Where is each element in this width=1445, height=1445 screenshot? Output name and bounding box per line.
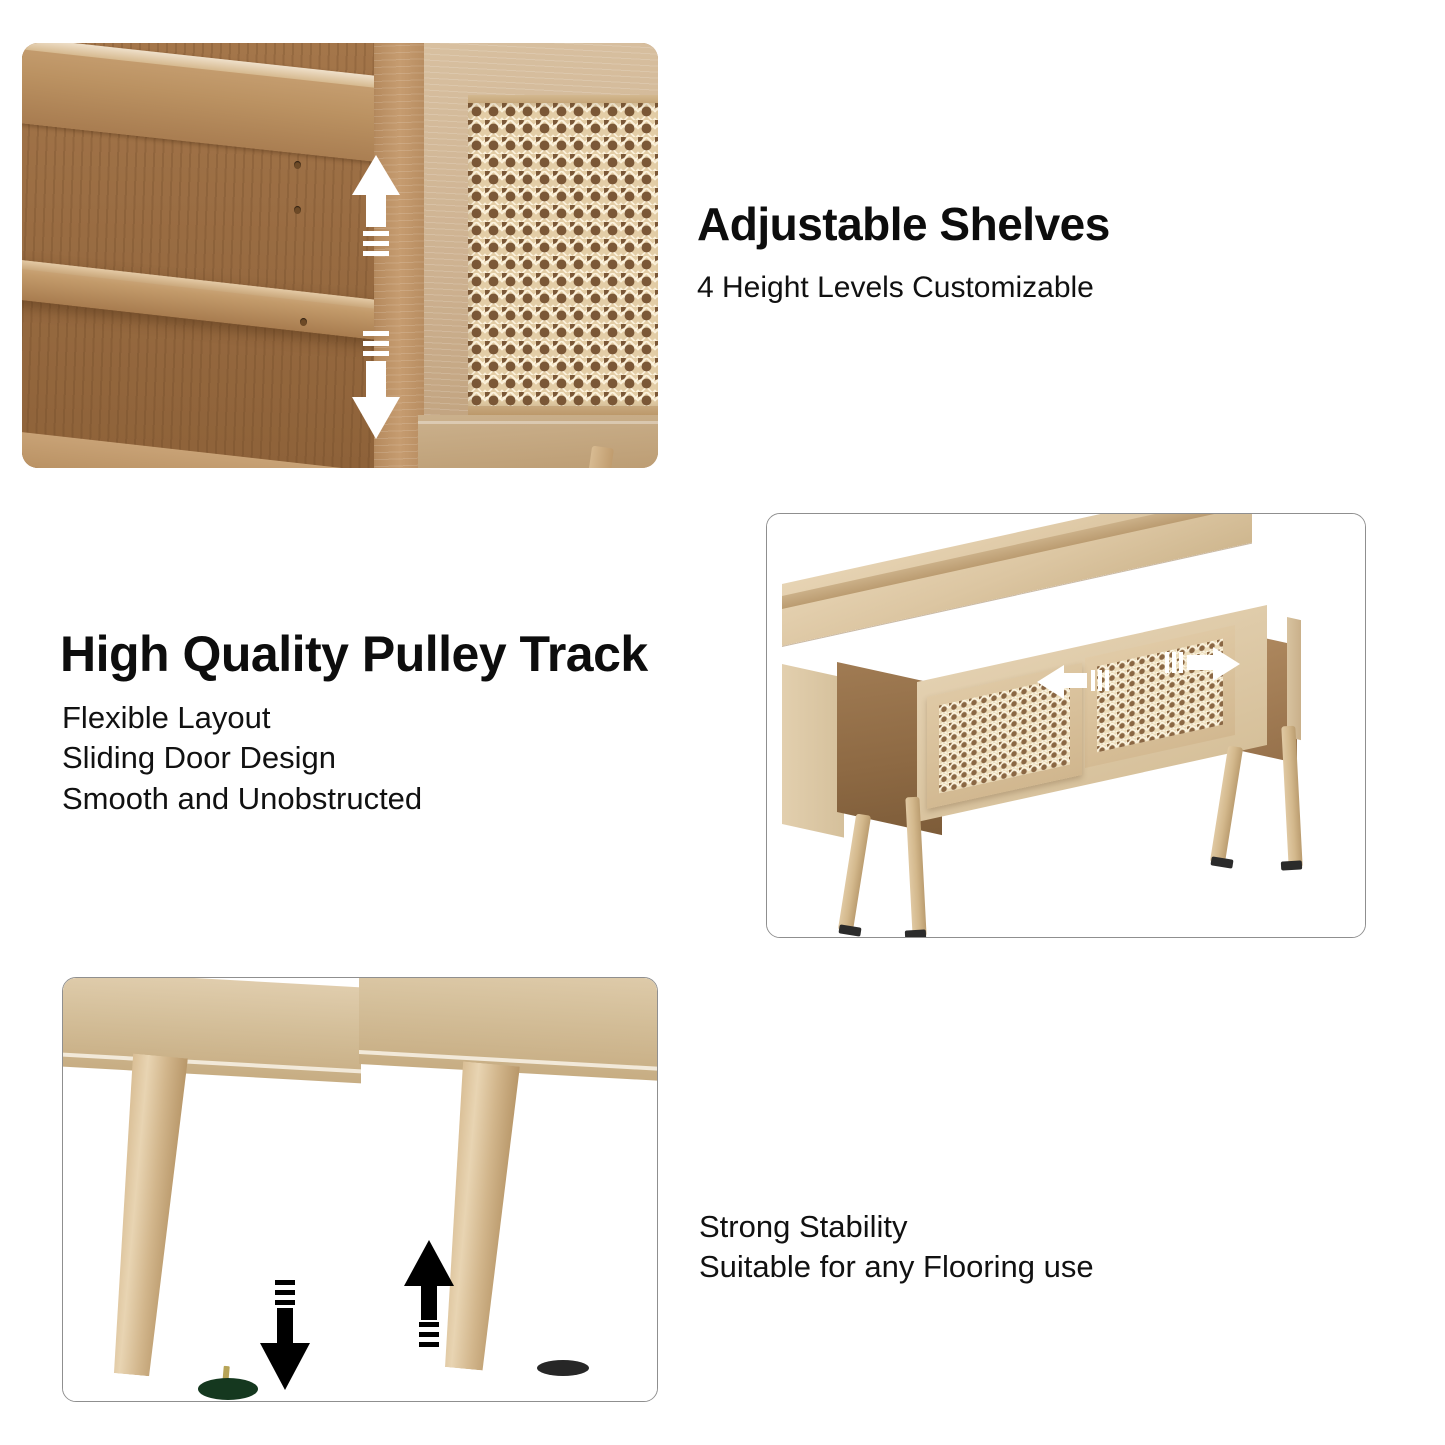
adjustable-leg-left [104,1054,188,1378]
leg-extend-down-arrow [259,1280,309,1392]
shelf-down-arrow-shaft [366,361,386,399]
rattan-cane-panel [468,103,658,408]
door-slide-right-arrow-shaft [1187,655,1215,670]
shelf-up-arrow-dash [363,231,389,236]
subtitle-adjustable-shelves: 4 Height Levels Customizable [697,268,1094,307]
leg-extend-down-arrow-head [260,1343,310,1390]
leveling-foot-pad-right [537,1360,589,1376]
stand-right-end-panel [1287,617,1301,740]
leg-extend-down-arrow-dash [275,1280,295,1285]
stand-leg-back-right [1281,726,1302,869]
door-slide-left-arrow-dash [1091,670,1095,691]
shelf-up-arrow-dash [363,251,389,256]
door-slide-right-arrow [1165,644,1243,684]
subtitle-pulley-track: Flexible Layout Sliding Door Design Smoo… [62,698,422,819]
shelf-peg-hole [294,161,301,169]
shelf-peg-hole [294,206,301,214]
door-slide-left-arrow-dash [1098,670,1102,691]
shelf-up-arrow-shaft [366,193,386,227]
stand-leg-front-right [1210,746,1243,865]
stand-left-end-panel [782,664,844,838]
leg-retract-up-arrow [403,1240,453,1350]
stand-foot-front-left [838,924,861,936]
leg-retract-up-arrow-shaft [421,1284,437,1320]
subtitle-line: 4 Height Levels Customizable [697,268,1094,307]
shelf-up-arrow-dash [363,241,389,246]
stand-foot-back-left [905,929,926,938]
shelf-up-arrow-head [352,155,400,195]
shelf-photo-stage [22,43,658,468]
subtitle-line: Strong Stability [699,1207,1094,1247]
subtitle-line: Suitable for any Flooring use [699,1247,1094,1287]
page-title-adjustable-shelves: Adjustable Shelves [697,200,1110,248]
subtitle-adjustable-legs: Strong Stability Suitable for any Floori… [699,1207,1094,1288]
stand-foot-back-right [1281,860,1302,870]
shelf-down-arrow-dash [363,341,389,346]
door-slide-right-arrow-dash [1165,652,1169,673]
door-slide-right-arrow-dash [1172,652,1176,673]
shelf-down-arrow [352,331,400,441]
leg-retract-up-arrow-head [404,1240,454,1286]
page-title-pulley-track: High Quality Pulley Track [60,628,648,681]
leg-retract-up-arrow-dash [419,1332,439,1337]
door-slide-right-arrow-dash [1179,652,1183,673]
shelf-closeup-image [22,43,658,468]
stand-photo-stage [767,514,1365,937]
cabinet-leg-peek [588,446,614,468]
infographic-page: Adjustable Shelves 4 Height Levels Custo… [0,0,1445,1445]
door-slide-left-arrow [1037,662,1115,702]
door-slide-left-arrow-dash [1105,670,1109,691]
leg-extend-down-arrow-dash [275,1300,295,1305]
subtitle-line: Sliding Door Design [62,738,422,778]
shelf-down-arrow-dash [363,351,389,356]
leveling-foot-pad-left [198,1378,258,1400]
subtitle-line: Flexible Layout [62,698,422,738]
cabinet-underside-left [62,977,361,1083]
leg-retract-up-arrow-dash [419,1322,439,1327]
legs-closeup-image [62,977,658,1402]
door-slide-right-arrow-head [1213,647,1240,681]
leg-extend-down-arrow-shaft [277,1308,293,1346]
legs-photo-stage [63,978,657,1401]
shelf-peg-hole [300,318,307,326]
subtitle-line: Smooth and Unobstructed [62,779,422,819]
full-stand-image [766,513,1366,938]
leg-retract-up-arrow-dash [419,1342,439,1347]
door-slide-left-arrow-shaft [1062,673,1087,688]
shelf-down-arrow-dash [363,331,389,336]
door-slide-left-arrow-head [1037,665,1064,699]
shelf-up-arrow [352,155,400,263]
cabinet-skirt [418,415,658,468]
stand-foot-front-right [1210,856,1233,868]
leg-extend-down-arrow-dash [275,1290,295,1295]
shelf-down-arrow-head [352,397,400,439]
